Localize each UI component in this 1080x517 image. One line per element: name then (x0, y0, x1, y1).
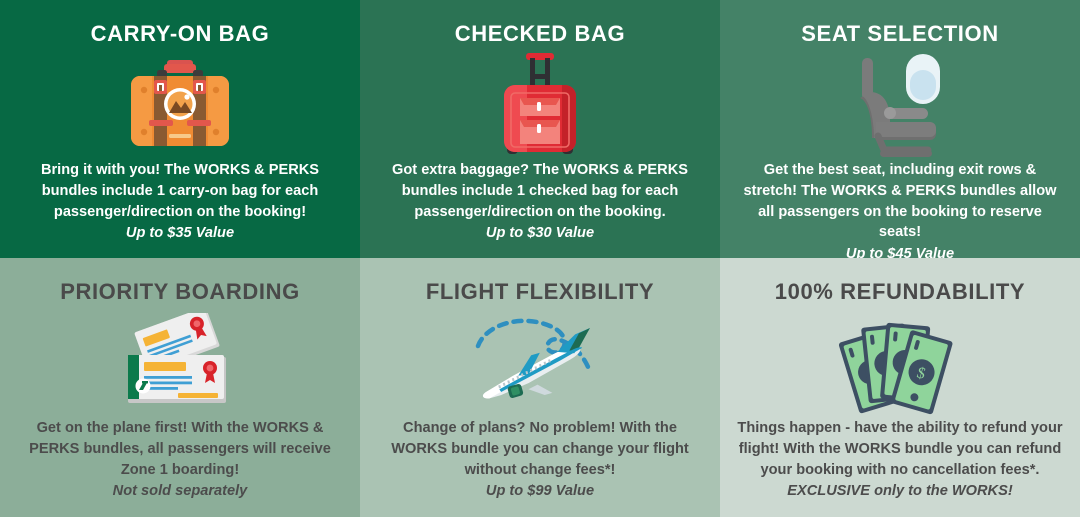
panel-checked-bag: CHECKED BAG Got extra baggag (360, 0, 720, 258)
panel-body: Change of plans? No problem! With the WO… (375, 418, 705, 480)
panel-body: Get on the plane first! With the WORKS &… (15, 418, 345, 480)
panel-body: Things happen - have the ability to refu… (735, 418, 1065, 480)
panel-seat-selection: SEAT SELECTION Get the best seat, includ… (720, 0, 1080, 258)
panel-value: Up to $99 Value (486, 483, 594, 499)
panel-title: SEAT SELECTION (801, 22, 998, 46)
panel-value: Up to $45 Value (846, 246, 954, 258)
panel-body: Bring it with you! The WORKS & PERKS bun… (15, 160, 345, 222)
panel-title: 100% REFUNDABILITY (775, 280, 1025, 304)
panel-value: Up to $30 Value (486, 225, 594, 241)
panel-title: FLIGHT FLEXIBILITY (426, 280, 654, 304)
airplane-seat-icon (848, 52, 952, 160)
panel-priority-boarding: PRIORITY BOARDING (0, 258, 360, 517)
panel-title: CHECKED BAG (455, 22, 625, 46)
panel-body: Get the best seat, including exit rows &… (735, 160, 1065, 243)
panel-value: EXCLUSIVE only to the WORKS! (787, 483, 1012, 499)
boarding-passes-icon (118, 310, 242, 418)
cash-banknotes-icon: $ $ $ (839, 310, 961, 418)
airplane-flight-path-icon (470, 310, 610, 418)
panel-refundability: 100% REFUNDABILITY $ (720, 258, 1080, 517)
panel-title: CARRY-ON BAG (91, 22, 270, 46)
carry-on-suitcase-icon (121, 52, 239, 160)
checked-rolling-bag-icon (490, 52, 590, 160)
panel-carry-on-bag: CARRY-ON BAG (0, 0, 360, 258)
panel-flight-flexibility: FLIGHT FLEXIBILITY (360, 258, 720, 517)
panel-title: PRIORITY BOARDING (60, 280, 300, 304)
panel-value: Not sold separately (113, 483, 248, 499)
benefits-grid: CARRY-ON BAG (0, 0, 1080, 517)
panel-value: Up to $35 Value (126, 225, 234, 241)
panel-body: Got extra baggage? The WORKS & PERKS bun… (375, 160, 705, 222)
